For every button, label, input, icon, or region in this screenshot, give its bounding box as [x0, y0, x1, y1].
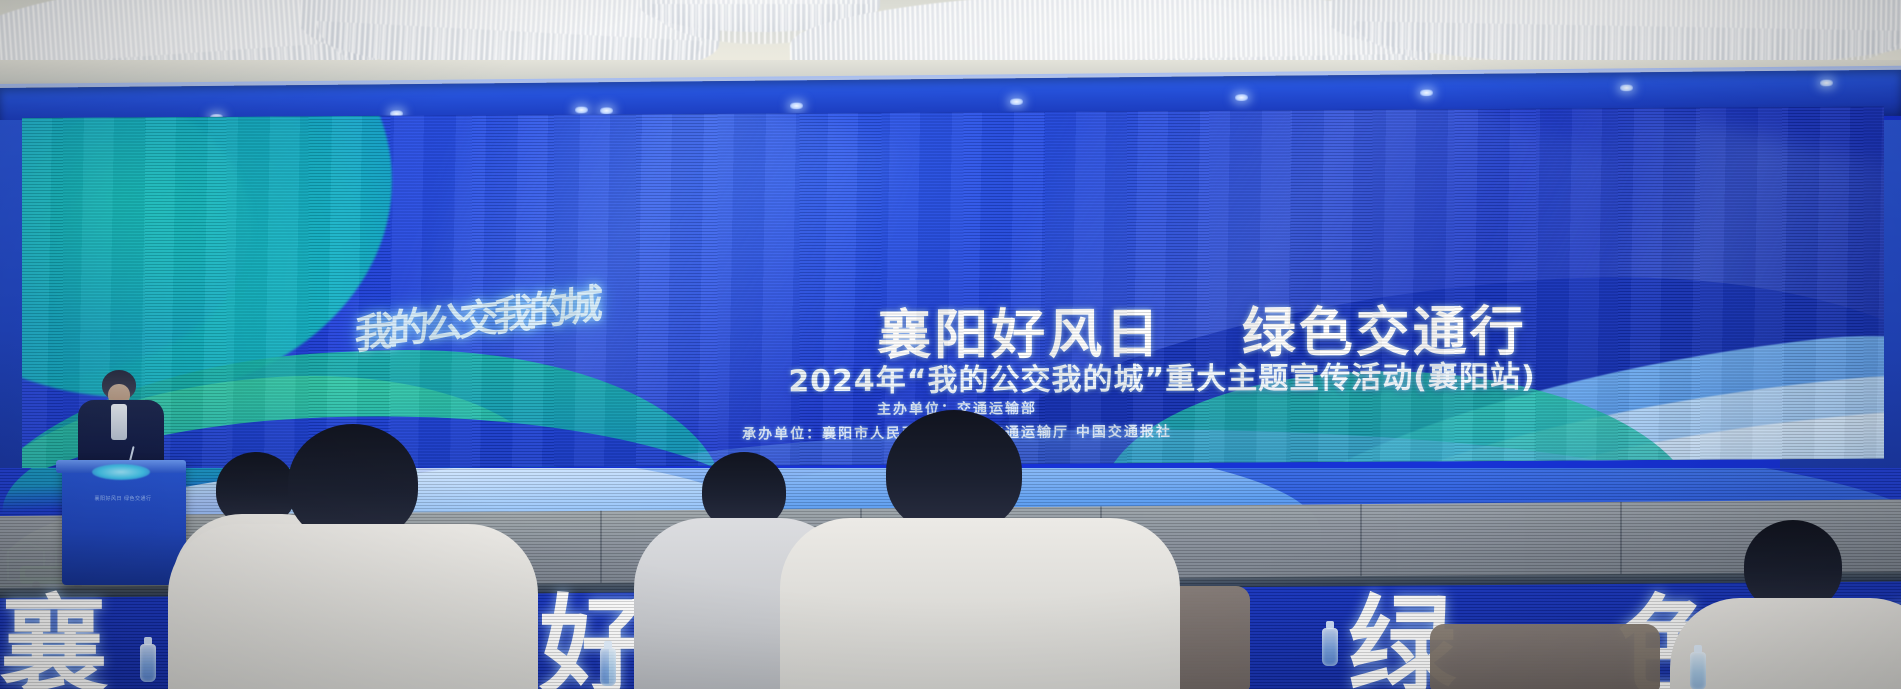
- downlight-icon: [1010, 98, 1023, 105]
- water-bottle: [600, 648, 616, 686]
- audience-shoulders: [168, 524, 538, 689]
- downlight-icon: [1420, 89, 1433, 96]
- downlight-icon: [1235, 94, 1248, 101]
- event-logo-text: 我的公交我的城: [354, 289, 549, 359]
- conference-hall-photo: 我的公交我的城: [0, 0, 1901, 689]
- downlight-icon: [790, 102, 803, 109]
- water-bottle: [1322, 628, 1338, 666]
- speaker-shirt: [111, 404, 127, 440]
- downlight-icon: [1820, 79, 1833, 86]
- audience-member: [1700, 520, 1901, 689]
- audience-shoulders: [780, 518, 1180, 689]
- downlight-icon: [575, 106, 588, 113]
- podium-emblem: [92, 464, 150, 480]
- audience-member: [232, 424, 482, 689]
- podium-with-speaker: 襄阳好风日 绿色交通行: [56, 360, 196, 585]
- event-subtitle: 2024年“我的公交我的城”重大主题宣传活动(襄阳站): [452, 350, 1872, 403]
- downlight-icon: [1620, 84, 1633, 91]
- downlight-icon: [600, 107, 613, 114]
- audience-head: [886, 410, 1022, 534]
- chair-back: [1430, 624, 1660, 689]
- water-bottle: [140, 644, 156, 682]
- water-bottle: [1690, 652, 1706, 689]
- podium-placard-text: 襄阳好风日 绿色交通行: [84, 496, 162, 503]
- audience-member: [846, 410, 1126, 689]
